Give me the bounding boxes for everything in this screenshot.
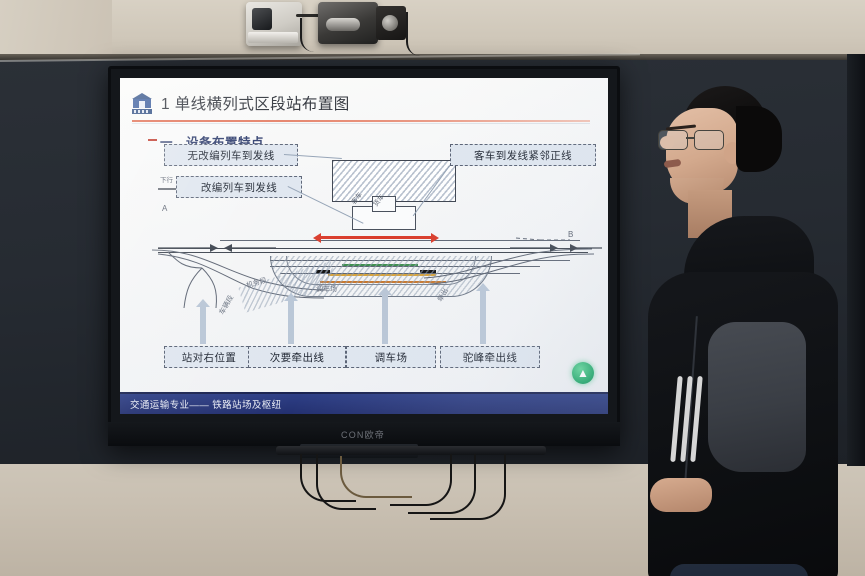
display-brand-logo: CON欧帝 bbox=[308, 428, 418, 441]
wall-mount-bracket bbox=[376, 6, 406, 40]
yard-inline-label: 调车场 bbox=[316, 284, 337, 294]
page-title: 1 单线横列式区段站布置图 bbox=[161, 92, 350, 114]
display-chin: CON欧帝 bbox=[108, 422, 620, 446]
callout-station-right-position[interactable]: 站对右位置 bbox=[164, 346, 254, 368]
subtitle-dash bbox=[148, 139, 157, 141]
slide-title-bar: 1 单线横列式区段站布置图 bbox=[130, 86, 600, 120]
slide-footer: 交通运输专业—— 铁路站场及枢纽 bbox=[120, 394, 608, 414]
left-entry-arrows bbox=[158, 242, 278, 254]
hanging-cable bbox=[430, 454, 506, 520]
interactive-display[interactable]: 1 单线横列式区段站布置图 一、设备布置特点 bbox=[108, 66, 620, 446]
ceiling-cable bbox=[406, 12, 430, 56]
callout-arrow-up bbox=[382, 294, 388, 344]
callout-no-reclassify-track[interactable]: 无改编列车到发线 bbox=[164, 144, 298, 166]
hanging-cable-tan bbox=[340, 456, 412, 498]
camera-lens-icon bbox=[252, 8, 272, 30]
callout-marshalling-yard[interactable]: 调车场 bbox=[346, 346, 436, 368]
presentation-slide[interactable]: 1 单线横列式区段站布置图 一、设备布置特点 bbox=[120, 78, 608, 414]
callout-passenger-track[interactable]: 客车到发线紧邻正线 bbox=[450, 144, 596, 166]
laser-pointer-icon: ▲ bbox=[572, 362, 594, 384]
camera-base bbox=[248, 32, 298, 43]
footer-text: 交通运输专业—— 铁路站场及枢纽 bbox=[130, 397, 282, 411]
station-building-icon bbox=[130, 92, 154, 115]
callout-secondary-lead-track[interactable]: 次要牵出线 bbox=[248, 346, 346, 368]
callout-arrow-up bbox=[200, 306, 206, 344]
ceiling-camera-left-icon bbox=[246, 2, 302, 46]
glasses-icon bbox=[658, 128, 730, 150]
callout-arrow-up bbox=[480, 290, 486, 344]
presenter bbox=[632, 86, 865, 576]
callout-hump-lead-track[interactable]: 驼峰牵出线 bbox=[440, 346, 540, 368]
passenger-line-arrow bbox=[320, 236, 432, 239]
end-label-right: B bbox=[568, 230, 573, 239]
end-label-left: A bbox=[162, 204, 167, 213]
presenter-hair-back bbox=[736, 106, 782, 172]
presenter-hands bbox=[650, 478, 712, 512]
mount-dial-icon bbox=[382, 15, 398, 31]
right-entry-arrows bbox=[510, 242, 602, 254]
callout-arrow-up bbox=[288, 300, 294, 344]
presenter-sleeve bbox=[708, 322, 806, 472]
ceiling-cable bbox=[300, 18, 332, 52]
classroom-scene: 1 单线横列式区段站布置图 一、设备布置特点 bbox=[0, 0, 865, 576]
title-underline-secondary bbox=[132, 123, 590, 124]
direction-label: 下行 bbox=[160, 174, 173, 184]
presenter-pants bbox=[670, 564, 808, 576]
callout-reclassify-track[interactable]: 改编列车到发线 bbox=[176, 176, 302, 198]
